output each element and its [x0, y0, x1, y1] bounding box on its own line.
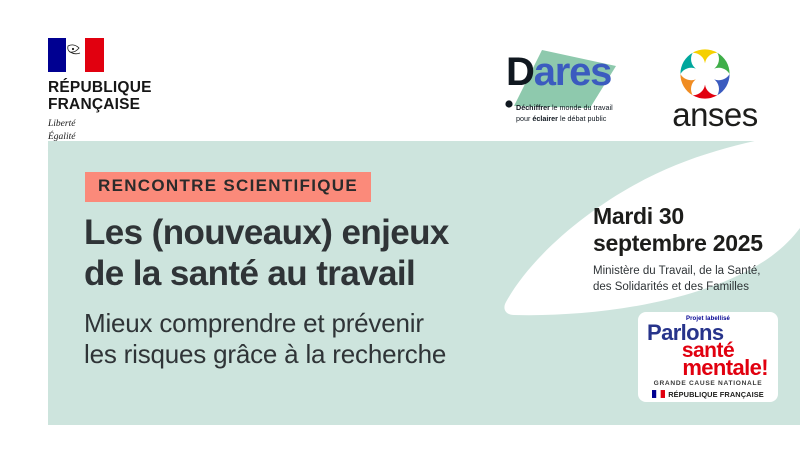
psm-line-mentale: mentale! — [644, 358, 772, 378]
dares-letters-ares: ares — [534, 50, 612, 94]
french-flag-icon — [652, 390, 665, 398]
event-location: Ministère du Travail, de la Santé, des S… — [593, 264, 793, 295]
dares-tagline-bold-1: Déchiffrer — [516, 103, 550, 112]
event-poster: RÉPUBLIQUE FRANÇAISE Liberté Égalité Fra… — [0, 0, 800, 450]
event-subheadline: Mieux comprendre et prévenir les risques… — [84, 308, 564, 370]
dares-tagline-start-2: pour — [516, 114, 532, 123]
dares-tagline-bold-2: éclairer — [532, 114, 558, 123]
french-flag-marianne-icon — [48, 36, 104, 74]
event-headline: Les (nouveaux) enjeux de la santé au tra… — [84, 213, 554, 295]
event-banner: RENCONTRE SCIENTIFIQUE Les (nouveaux) en… — [48, 141, 800, 425]
republique-francaise-logo: RÉPUBLIQUE FRANÇAISE Liberté Égalité Fra… — [40, 36, 200, 155]
dares-tagline-rest-1: le monde du travail — [550, 103, 613, 112]
psm-republique-text: RÉPUBLIQUE FRANÇAISE — [668, 391, 764, 398]
anses-logo: anses — [650, 46, 780, 136]
parlons-sante-mentale-label: Projet labellisé Parlons santé mentale! … — [638, 312, 778, 402]
rencontre-scientifique-badge: RENCONTRE SCIENTIFIQUE — [85, 172, 371, 202]
header-logo-bar: RÉPUBLIQUE FRANÇAISE Liberté Égalité Fra… — [0, 0, 800, 141]
event-date: Mardi 30 septembre 2025 — [593, 203, 793, 257]
event-date-block: Mardi 30 septembre 2025 Ministère du Tra… — [593, 203, 793, 295]
dares-logo: Dares Déchiffrer le monde du travail pou… — [498, 46, 633, 132]
dares-tagline-rest-2: le débat public — [558, 114, 606, 123]
psm-republique-row: RÉPUBLIQUE FRANÇAISE — [644, 390, 772, 398]
dares-tagline: Déchiffrer le monde du travail pour écla… — [516, 102, 636, 124]
anses-wordmark: anses — [650, 98, 780, 131]
dares-letter-d: D — [506, 50, 534, 94]
psm-grande-cause-nationale: GRANDE CAUSE NATIONALE — [644, 381, 772, 388]
republique-francaise-title: RÉPUBLIQUE FRANÇAISE — [48, 80, 200, 113]
dares-wordmark: Dares — [506, 52, 611, 92]
anses-petal-circle-icon — [677, 46, 733, 102]
